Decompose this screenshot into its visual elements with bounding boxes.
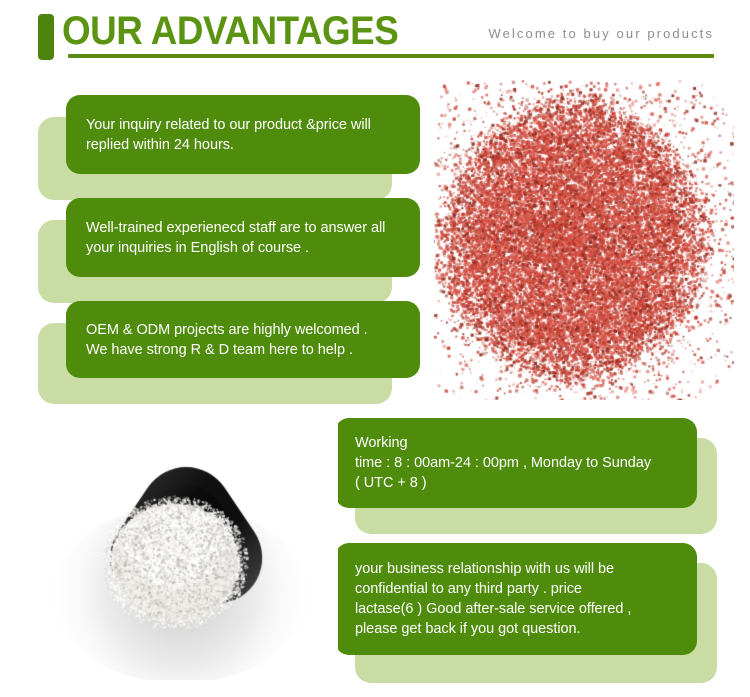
- black-dish-canvas: [46, 412, 338, 680]
- card-body: Your inquiry related to our product &pri…: [66, 95, 420, 174]
- card-body: OEM & ODM projects are highly welcomed .…: [66, 301, 420, 378]
- card-body: your business relationship with us will …: [335, 543, 697, 655]
- card-text: Working time : 8 : 00am-24 : 00pm , Mond…: [335, 433, 651, 493]
- header-tagline: Welcome to buy our products: [488, 26, 714, 41]
- advantage-card-3: OEM & ODM projects are highly welcomed .…: [38, 301, 420, 404]
- black-dish-white-powder-photo: [46, 412, 338, 680]
- header-accent-bar: [38, 14, 54, 60]
- header-divider-rule: [68, 54, 714, 58]
- card-text: your business relationship with us will …: [335, 559, 631, 639]
- red-powder-pile-photo: [434, 80, 734, 400]
- advantage-card-4-working-hours: Working time : 8 : 00am-24 : 00pm , Mond…: [335, 418, 717, 534]
- advantage-card-1: Your inquiry related to our product &pri…: [38, 95, 420, 200]
- card-text: Well-trained experienecd staff are to an…: [66, 218, 385, 258]
- card-body: Working time : 8 : 00am-24 : 00pm , Mond…: [335, 418, 697, 508]
- page-title: OUR ADVANTAGES: [62, 8, 398, 54]
- card-text: OEM & ODM projects are highly welcomed .…: [66, 320, 368, 360]
- advantage-card-2: Well-trained experienecd staff are to an…: [38, 198, 420, 303]
- red-powder-canvas: [434, 80, 734, 400]
- card-text: Your inquiry related to our product &pri…: [66, 115, 371, 155]
- page-header: OUR ADVANTAGES Welcome to buy our produc…: [0, 0, 750, 70]
- advantages-banner: OUR ADVANTAGES Welcome to buy our produc…: [0, 0, 750, 697]
- card-body: Well-trained experienecd staff are to an…: [66, 198, 420, 277]
- advantage-card-5-confidentiality: your business relationship with us will …: [335, 543, 717, 683]
